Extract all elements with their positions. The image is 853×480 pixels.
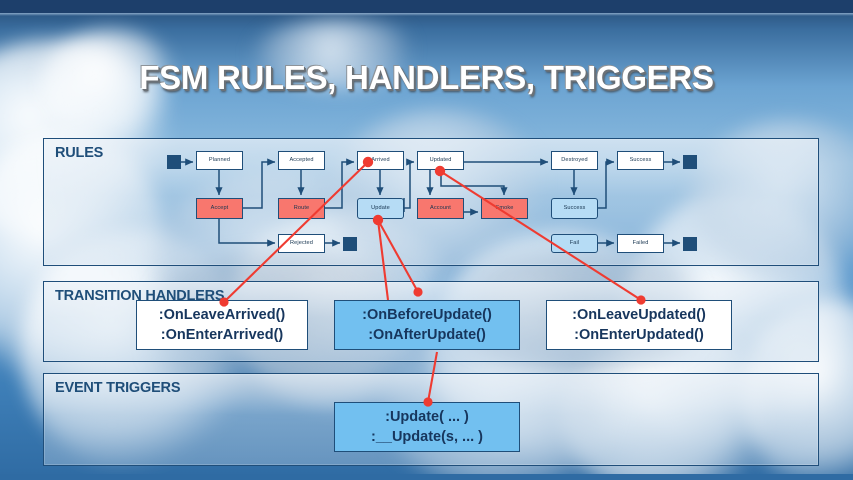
fsm-node-label: Smoke: [496, 206, 514, 212]
fsm-node-update[interactable]: Update: [357, 198, 404, 219]
fsm-node-planned[interactable]: Planned: [196, 151, 243, 170]
fsm-node-label: Rejected: [290, 241, 313, 247]
fsm-node-smoke[interactable]: Smoke: [481, 198, 528, 219]
fsm-node-label: Accept: [211, 206, 229, 212]
fsm-node-label: Route: [294, 206, 309, 212]
handler-line: :OnEnterUpdated(): [574, 325, 704, 345]
handler-line: :OnAfterUpdate(): [368, 325, 486, 345]
fsm-node-rejected[interactable]: Rejected: [278, 234, 325, 253]
handler-box-arrived[interactable]: :OnLeaveArrived() :OnEnterArrived(): [136, 300, 308, 350]
slide: FSM RULES, HANDLERS, TRIGGERS RULES: [0, 0, 853, 480]
fsm-node-label: Success: [564, 206, 586, 212]
fsm-node-failed[interactable]: Failed: [617, 234, 664, 253]
fsm-node-fail[interactable]: Fail: [551, 234, 598, 253]
fsm-node-label: Arrived: [371, 158, 389, 164]
handler-box-update[interactable]: :OnBeforeUpdate() :OnAfterUpdate(): [334, 300, 520, 350]
fsm-node-updated[interactable]: Updated: [417, 151, 464, 170]
fsm-node-end2: [343, 237, 357, 251]
handler-line: :OnLeaveUpdated(): [572, 305, 706, 325]
fsm-node-account[interactable]: Account: [417, 198, 464, 219]
fsm-node-success-blue[interactable]: Success: [551, 198, 598, 219]
fsm-node-label: Failed: [633, 241, 649, 247]
fsm-node-accepted[interactable]: Accepted: [278, 151, 325, 170]
fsm-node-success-white[interactable]: Success: [617, 151, 664, 170]
trigger-line: :Update( ... ): [385, 407, 469, 427]
handler-line: :OnLeaveArrived(): [159, 305, 286, 325]
fsm-node-label: Fail: [570, 241, 579, 247]
fsm-node-label: Update: [371, 206, 390, 212]
trigger-box-update[interactable]: :Update( ... ) :__Update(s, ... ): [334, 402, 520, 452]
fsm-node-destroyed[interactable]: Destroyed: [551, 151, 598, 170]
trigger-line: :__Update(s, ... ): [371, 427, 483, 447]
fsm-node-accept[interactable]: Accept: [196, 198, 243, 219]
fsm-node-label: Planned: [209, 158, 230, 164]
fsm-node-arrived[interactable]: Arrived: [357, 151, 404, 170]
fsm-node-label: Updated: [430, 158, 452, 164]
fsm-node-end3: [683, 237, 697, 251]
panel-triggers-title: EVENT TRIGGERS: [55, 380, 180, 396]
handler-box-updated[interactable]: :OnLeaveUpdated() :OnEnterUpdated(): [546, 300, 732, 350]
fsm-node-label: Success: [630, 158, 652, 164]
fsm-node-label: Accepted: [289, 158, 313, 164]
fsm-node-start1: [167, 155, 181, 169]
fsm-node-end1: [683, 155, 697, 169]
handler-line: :OnEnterArrived(): [161, 325, 283, 345]
fsm-node-label: Account: [430, 206, 451, 212]
handler-line: :OnBeforeUpdate(): [362, 305, 492, 325]
fsm-node-label: Destroyed: [561, 158, 587, 164]
fsm-node-route[interactable]: Route: [278, 198, 325, 219]
